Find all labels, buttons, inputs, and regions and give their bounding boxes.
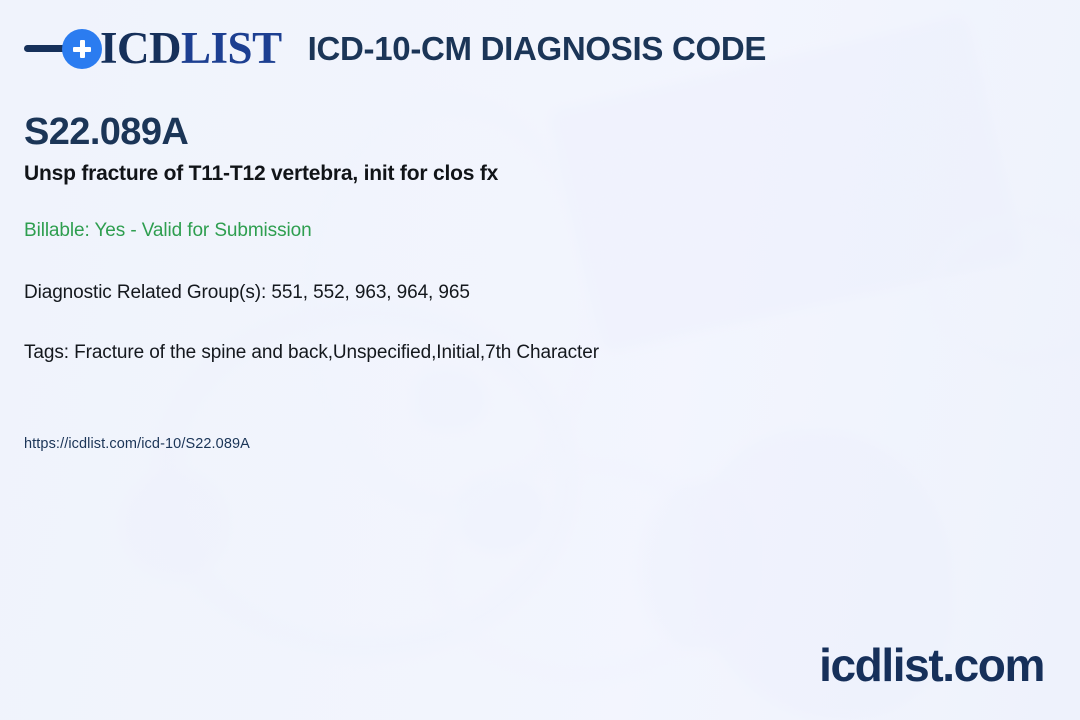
diagnosis-code: S22.089A [24, 112, 1034, 154]
code-description: Unsp fracture of T11-T12 vertebra, init … [24, 162, 1034, 186]
page-title: ICD-10-CM DIAGNOSIS CODE [308, 30, 767, 68]
drg-list: Diagnostic Related Group(s): 551, 552, 9… [24, 282, 1034, 304]
icdlist-logo[interactable]: ICDLIST [24, 26, 282, 71]
plus-circle-icon [62, 29, 102, 69]
logo-word-icd: ICD [100, 23, 181, 73]
icd-code-card: ICDLIST ICD-10-CM DIAGNOSIS CODE S22.089… [0, 0, 1080, 720]
header: ICDLIST ICD-10-CM DIAGNOSIS CODE [24, 26, 766, 71]
code-details: S22.089A Unsp fracture of T11-T12 verteb… [24, 112, 1034, 452]
plus-vertical-stroke [80, 40, 85, 58]
logo-wordmark: ICDLIST [100, 26, 282, 71]
card-content: ICDLIST ICD-10-CM DIAGNOSIS CODE S22.089… [0, 0, 1080, 720]
logo-word-list: LIST [181, 23, 282, 73]
source-url[interactable]: https://icdlist.com/icd-10/S22.089A [24, 436, 1034, 452]
tag-list: Tags: Fracture of the spine and back,Uns… [24, 342, 1034, 364]
billable-status: Billable: Yes - Valid for Submission [24, 220, 1034, 242]
footer-brand[interactable]: icdlist.com [819, 638, 1044, 692]
horizontal-bar-icon [24, 45, 66, 52]
